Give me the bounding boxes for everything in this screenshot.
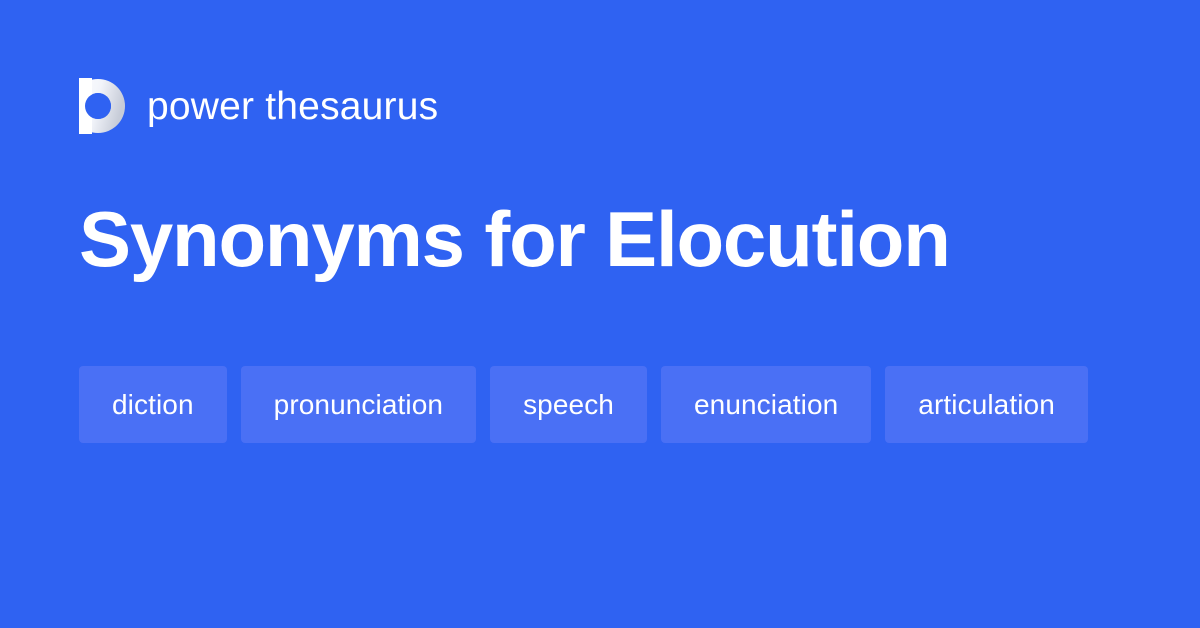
- power-thesaurus-logo-icon: [79, 78, 125, 134]
- synonym-chip[interactable]: diction: [79, 366, 227, 443]
- synonym-chip[interactable]: enunciation: [661, 366, 871, 443]
- synonym-chip-list: diction pronunciation speech enunciation…: [79, 366, 1119, 443]
- brand-name: power thesaurus: [147, 87, 438, 126]
- brand-logo[interactable]: power thesaurus: [79, 78, 438, 134]
- share-card: power thesaurus Synonyms for Elocution d…: [0, 0, 1200, 628]
- synonym-chip[interactable]: articulation: [885, 366, 1088, 443]
- synonym-chip[interactable]: speech: [490, 366, 647, 443]
- page-title: Synonyms for Elocution: [79, 198, 950, 281]
- synonym-chip[interactable]: pronunciation: [241, 366, 476, 443]
